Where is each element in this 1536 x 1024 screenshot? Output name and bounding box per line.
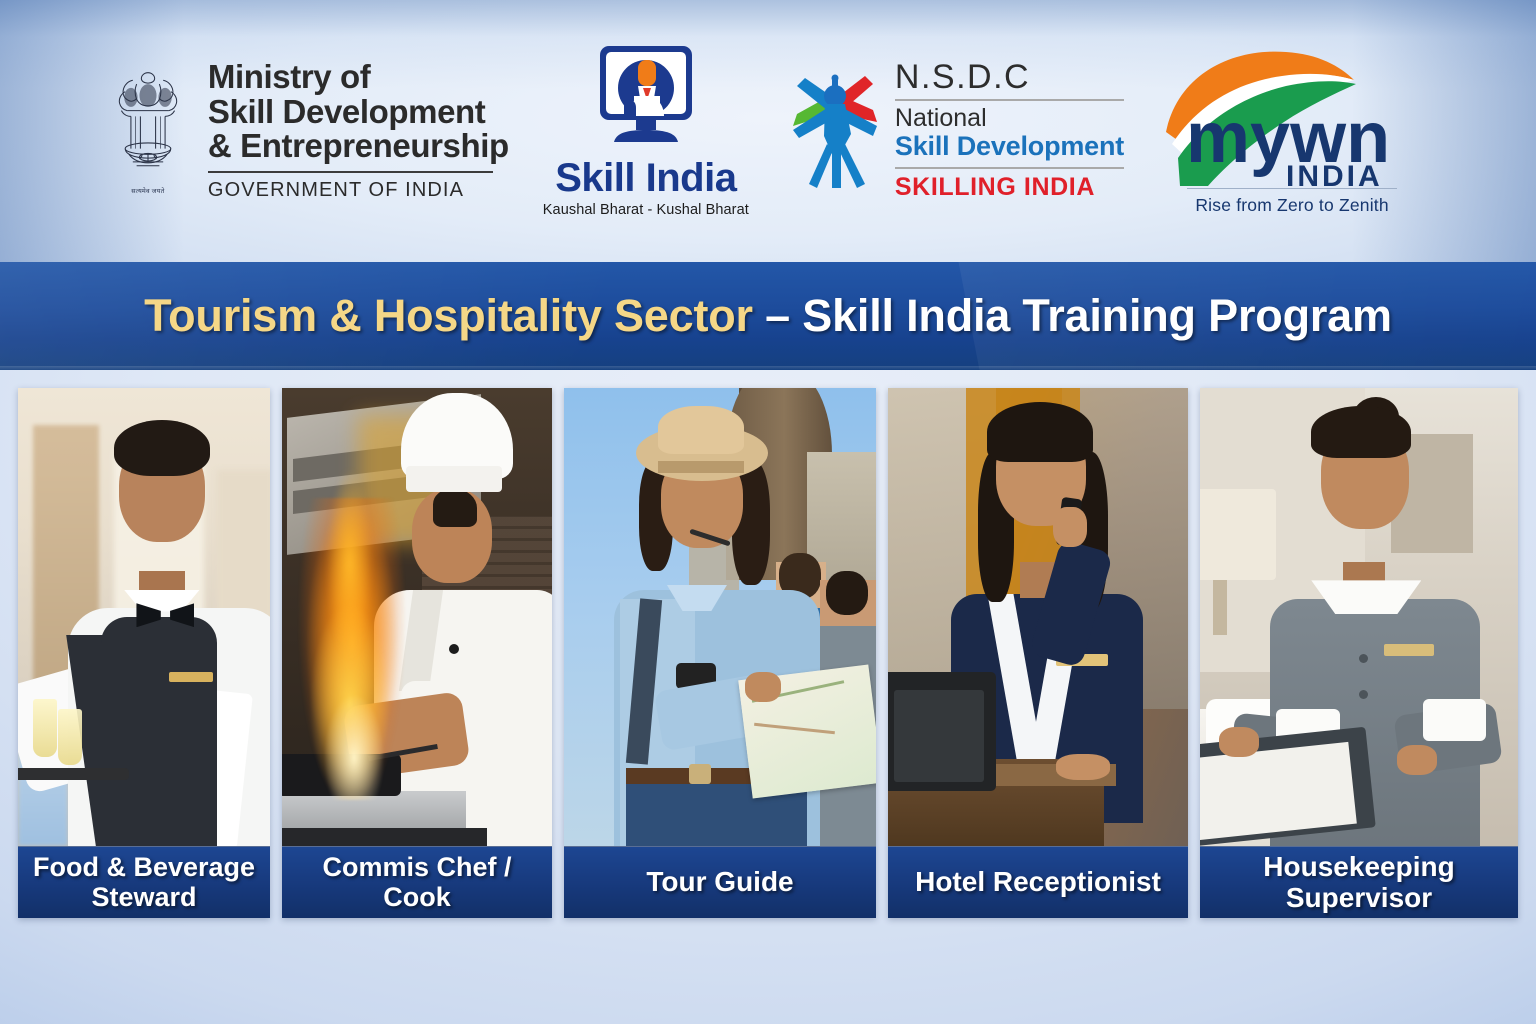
logo-row: सत्यमेव जयते Ministry of Skill Developme… xyxy=(0,0,1536,262)
nsdc-line-national: National xyxy=(895,105,1124,133)
title-banner: Tourism & Hospitality Sector – Skill Ind… xyxy=(0,262,1536,370)
food-beverage-steward-photo xyxy=(18,388,270,846)
page-title: Tourism & Hospitality Sector – Skill Ind… xyxy=(144,290,1392,342)
nsdc-divider-bottom xyxy=(895,167,1124,169)
commis-chef-cook-photo xyxy=(282,388,552,846)
emblem-caption: सत्यमेव जयते xyxy=(102,186,194,195)
government-of-india-label: GOVERNMENT OF INDIA xyxy=(208,179,509,202)
logo-header-band: सत्यमेव जयते Ministry of Skill Developme… xyxy=(0,0,1536,262)
role-card-housekeeping-supervisor[interactable]: Housekeeping Supervisor xyxy=(1200,388,1518,918)
role-card-label: Tour Guide xyxy=(564,846,876,918)
ashoka-emblem-icon: सत्यमेव जयते xyxy=(102,67,194,195)
role-card-label: Housekeeping Supervisor xyxy=(1200,846,1518,918)
role-card-commis-chef-cook[interactable]: Commis Chef / Cook xyxy=(282,388,552,918)
ministry-logo: सत्यमेव जयते Ministry of Skill Developme… xyxy=(102,60,509,203)
role-card-label: Hotel Receptionist xyxy=(888,846,1188,918)
skill-india-wordmark: Skill India xyxy=(555,156,736,201)
role-card-tour-guide[interactable]: Tour Guide xyxy=(564,388,876,918)
ministry-line-2: Skill Development xyxy=(208,95,509,130)
ministry-line-1: Ministry of xyxy=(208,60,509,95)
nsdc-abbreviation: N.S.D.C xyxy=(895,60,1124,94)
poster-canvas: सत्यमेव जयते Ministry of Skill Developme… xyxy=(0,0,1536,1024)
role-card-grid: Food & Beverage Steward Commis Chef / Co… xyxy=(18,388,1520,918)
ministry-text-block: Ministry of Skill Development & Entrepre… xyxy=(208,60,509,203)
hotel-receptionist-photo xyxy=(888,388,1188,846)
role-card-label: Commis Chef / Cook xyxy=(282,846,552,918)
skill-india-tagline: Kaushal Bharat - Kushal Bharat xyxy=(543,202,749,218)
role-card-food-beverage-steward[interactable]: Food & Beverage Steward xyxy=(18,388,270,918)
mywn-tagline: Rise from Zero to Zenith xyxy=(1195,195,1388,216)
nsdc-divider-top xyxy=(895,99,1124,101)
tour-guide-photo xyxy=(564,388,876,846)
mywn-tricolour-wordmark-icon: mywn INDIA xyxy=(1158,46,1426,186)
ministry-divider xyxy=(208,171,493,173)
page-title-rest: – Skill India Training Program xyxy=(753,290,1392,341)
skill-india-monitor-icon xyxy=(594,44,698,152)
nsdc-line-skilling-india: SKILLING INDIA xyxy=(895,173,1124,202)
nsdc-line-skill-development: Skill Development xyxy=(895,132,1124,162)
role-card-label: Food & Beverage Steward xyxy=(18,846,270,918)
nsdc-text-block: N.S.D.C National Skill Development SKILL… xyxy=(895,60,1124,201)
skill-india-logo: Skill India Kaushal Bharat - Kushal Bhar… xyxy=(543,44,749,218)
svg-text:INDIA: INDIA xyxy=(1286,160,1383,186)
nsdc-logo: N.S.D.C National Skill Development SKILL… xyxy=(787,60,1124,201)
nsdc-human-figure-icon xyxy=(787,70,883,192)
mywn-divider xyxy=(1187,188,1397,190)
page-title-highlight: Tourism & Hospitality Sector xyxy=(144,290,753,341)
role-card-hotel-receptionist[interactable]: Hotel Receptionist xyxy=(888,388,1188,918)
housekeeping-supervisor-photo xyxy=(1200,388,1518,846)
mywn-india-logo: mywn INDIA Rise from Zero to Zenith xyxy=(1158,46,1426,217)
ministry-line-3: & Entrepreneurship xyxy=(208,129,509,164)
